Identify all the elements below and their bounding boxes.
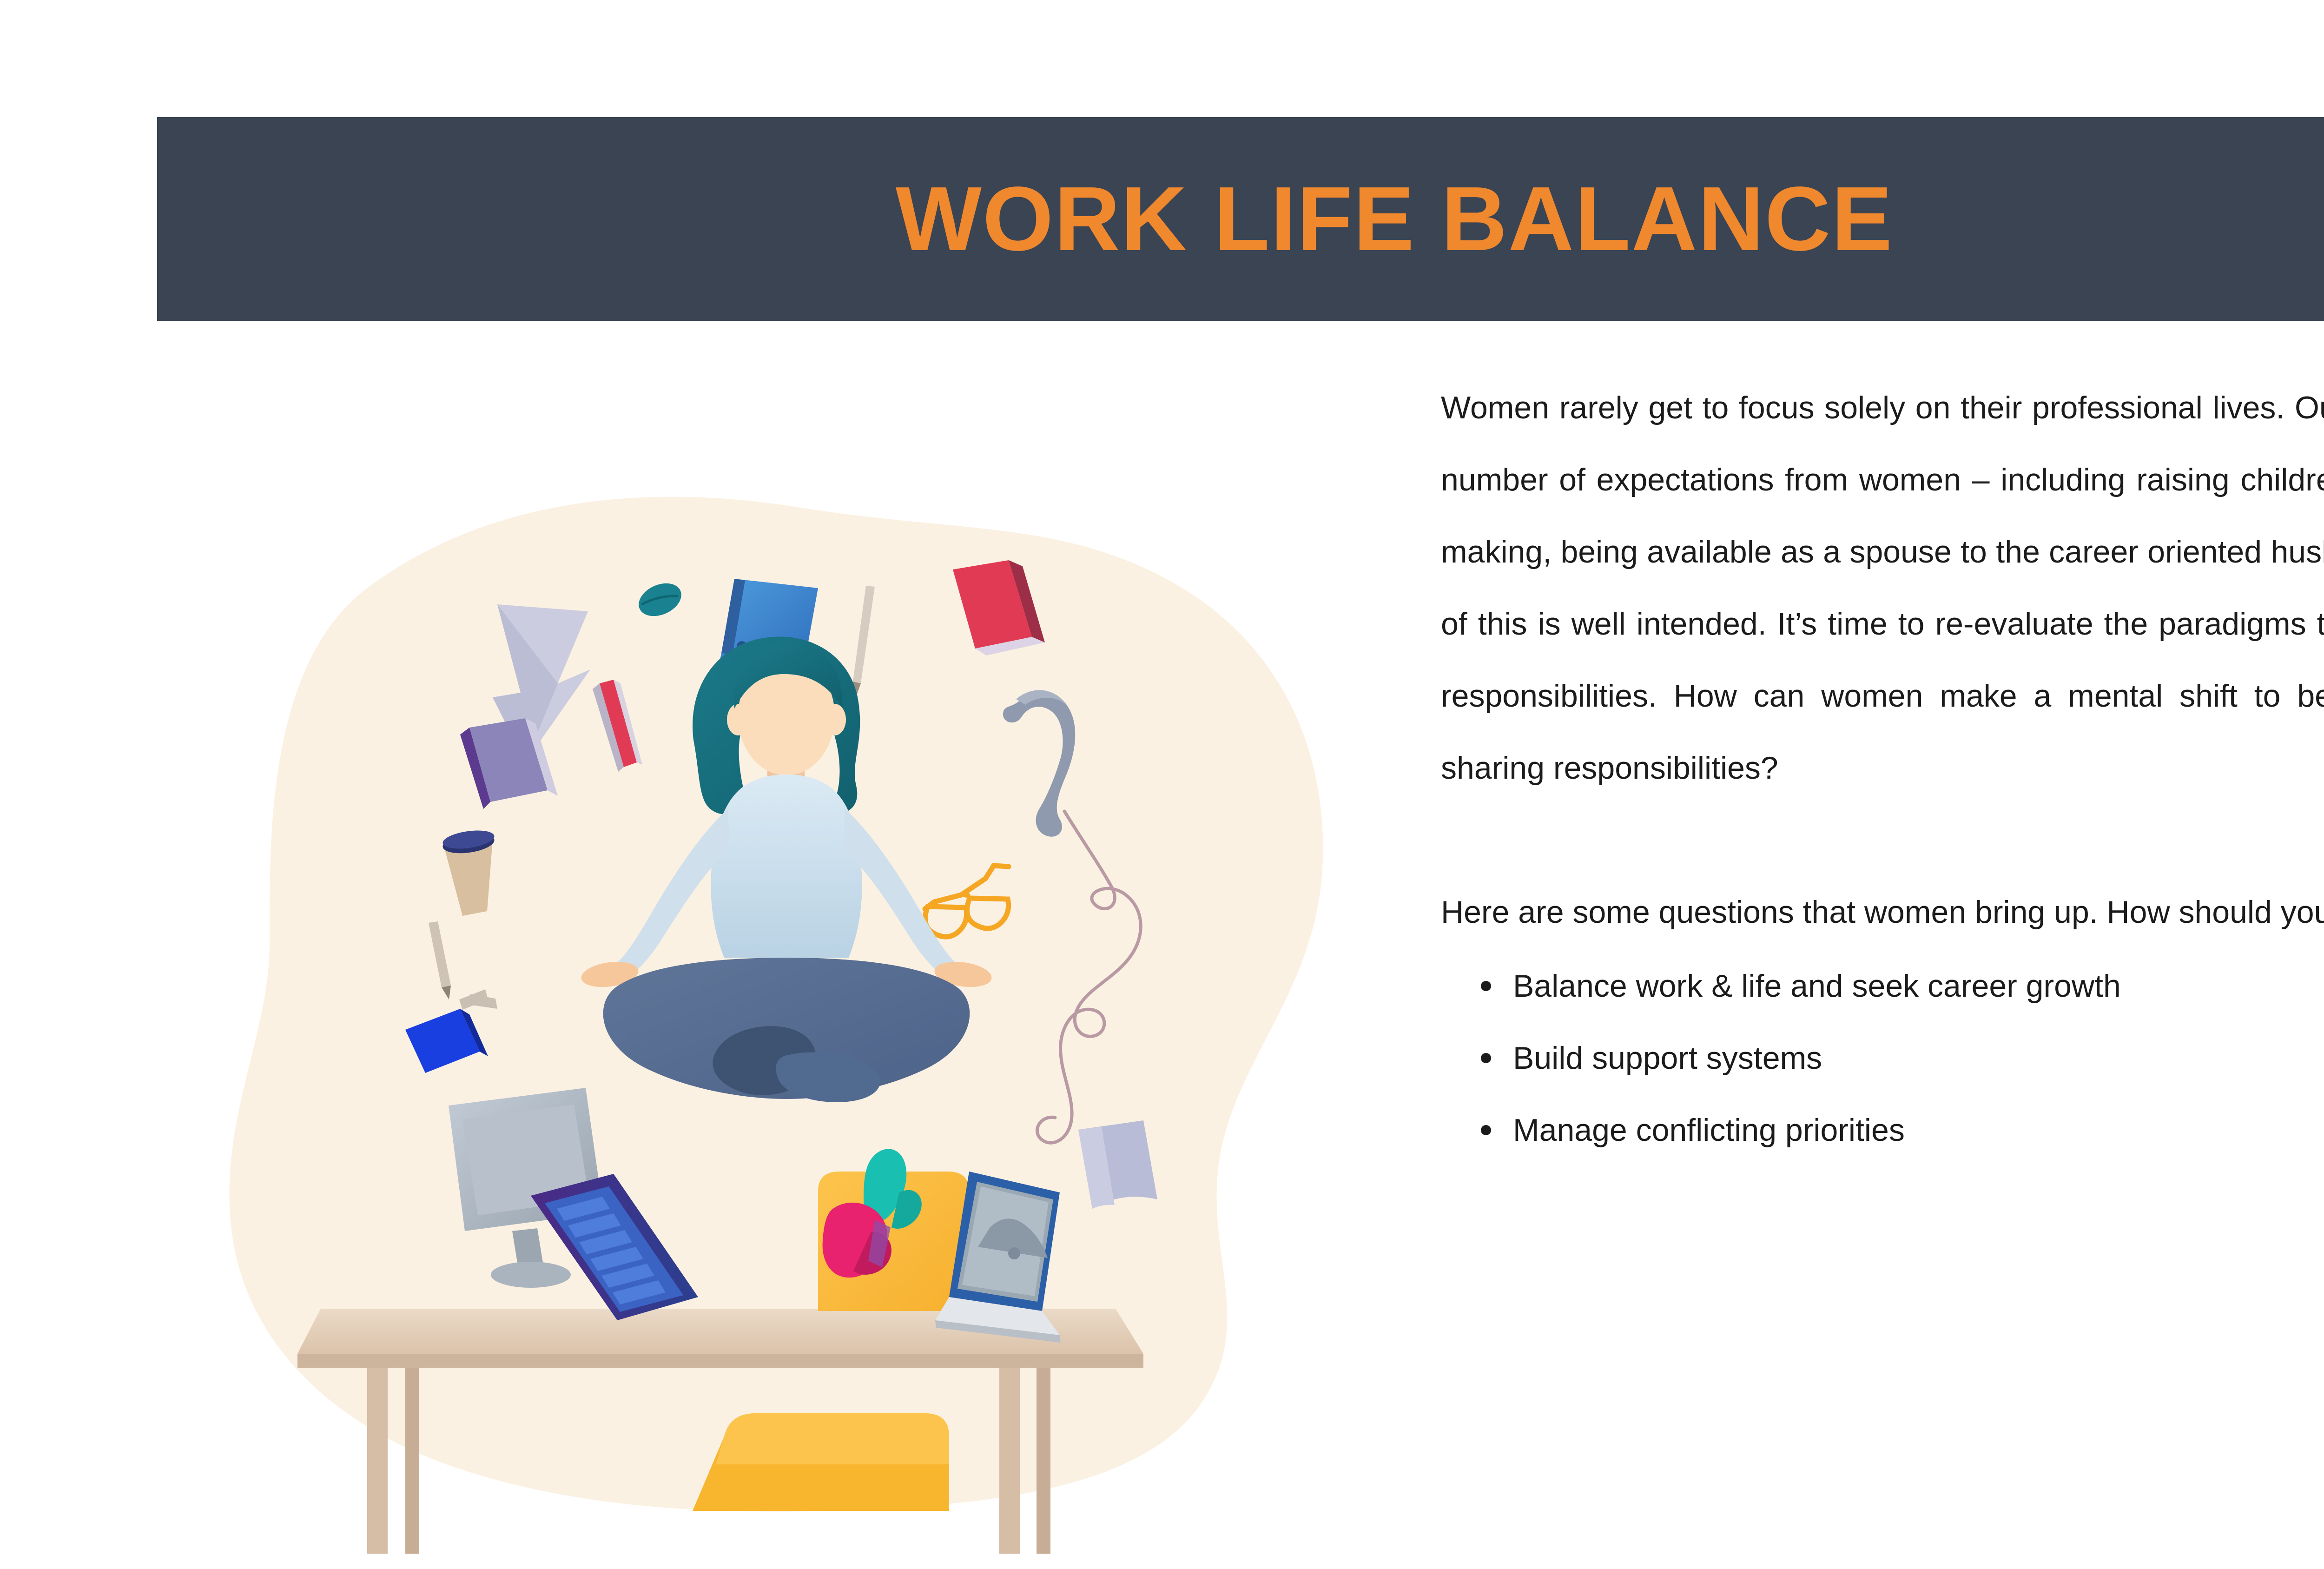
list-item-label: Build support systems (1513, 1040, 1822, 1076)
illustration-woman-meditating (200, 465, 1394, 1569)
bullet-dot-icon (1481, 981, 1491, 991)
paragraph-intro: Women rarely get to focus solely on thei… (1441, 372, 2324, 804)
list-item-label: Manage conflicting priorities (1513, 1112, 1905, 1148)
questions-bullet-list: Balance work & life and seek career grow… (1441, 950, 2324, 1166)
list-item: Build support systems (1441, 1022, 2324, 1094)
sticky-note (1078, 1120, 1157, 1209)
list-item: Balance work & life and seek career grow… (1441, 950, 2324, 1022)
list-item: Manage conflicting priorities (1441, 1094, 2324, 1166)
list-item-label: Balance work & life and seek career grow… (1513, 968, 2121, 1004)
page-title: WORK LIFE BALANCE (896, 173, 1893, 265)
bullet-dot-icon (1481, 1053, 1491, 1063)
bullet-dot-icon (1481, 1125, 1491, 1135)
title-bar: WORK LIFE BALANCE (157, 117, 2324, 321)
paragraph-questions-lead-in: Here are some questions that women bring… (1441, 876, 2324, 948)
body-copy-column: Women rarely get to focus solely on thei… (1441, 372, 2324, 1166)
